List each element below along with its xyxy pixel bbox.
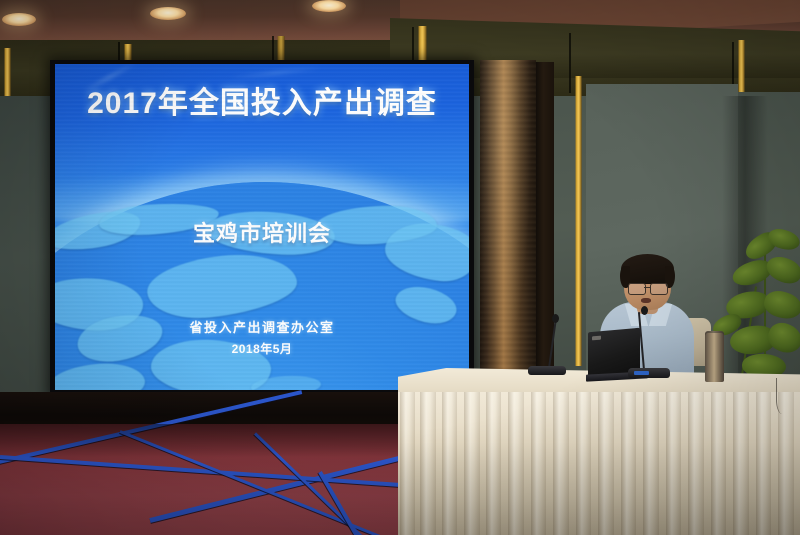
skirt-pleat: [553, 392, 569, 535]
skirt-pleat: [508, 392, 524, 535]
microphone-indicator: [634, 371, 649, 375]
skirt-pleat: [733, 392, 749, 535]
ceiling-downlight: [150, 7, 186, 20]
skirt-pleat: [576, 392, 591, 535]
skirt-pleat: [420, 392, 436, 535]
microphone-capsule: [552, 314, 559, 323]
bronze-column: [480, 60, 536, 390]
skirt-pleat: [400, 392, 415, 535]
presenter-mouth: [641, 298, 651, 303]
wall-accent-light-strip: [738, 40, 745, 98]
presenter-glasses-bridge: [644, 287, 650, 288]
screen-light-streak: [231, 67, 321, 78]
presenter-glasses-lens: [650, 283, 668, 295]
ceiling-downlight: [312, 0, 346, 12]
thermos: [705, 333, 724, 382]
slide-subtitle: 宝鸡市培训会: [55, 216, 469, 248]
skirt-pleat: [643, 392, 659, 535]
laptop-brand-logo: [592, 336, 601, 341]
wall-accent-light-strip-tall: [575, 76, 582, 366]
slide-organization: 省投入产出调查办公室: [55, 317, 469, 336]
skirt-pleat: [756, 392, 771, 535]
skirt-pleat: [486, 392, 501, 535]
skirt-pleat: [598, 392, 614, 535]
skirt-pleat: [531, 392, 546, 535]
skirt-pleat: [442, 392, 457, 535]
skirt-pleat: [621, 392, 636, 535]
conference-room-photo: 2017年全国投入产出调查 宝鸡市培训会 省投入产出调查办公室 2018年5月: [0, 0, 800, 535]
cable: [776, 378, 791, 414]
presenter-glasses-lens: [628, 283, 646, 295]
slide-date: 2018年5月: [55, 340, 469, 357]
skirt-pleat: [688, 392, 704, 535]
projection-screen: 2017年全国投入产出调查 宝鸡市培训会 省投入产出调查办公室 2018年5月: [55, 64, 469, 390]
microphone-base: [528, 366, 566, 375]
slide-title: 2017年全国投入产出调查: [55, 78, 469, 122]
table-skirt: [398, 392, 800, 535]
skirt-pleat: [666, 392, 681, 535]
wall-seam: [569, 33, 571, 93]
ceiling-downlight: [2, 13, 36, 26]
skirt-pleat: [711, 392, 726, 535]
microphone-capsule: [641, 306, 648, 315]
skirt-pleat: [464, 392, 480, 535]
